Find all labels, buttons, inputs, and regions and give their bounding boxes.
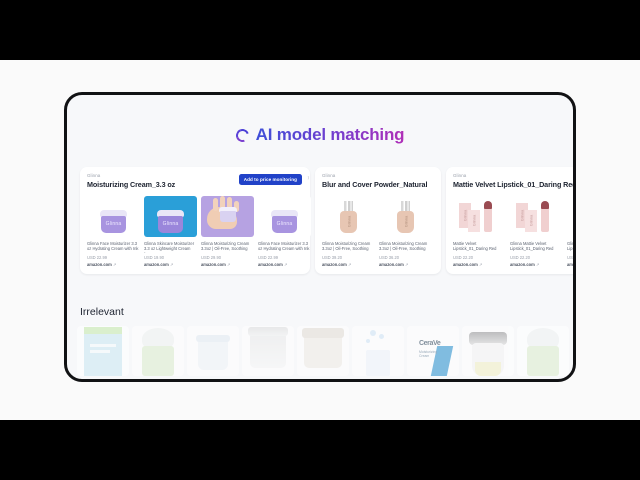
loading-spinner-icon — [234, 126, 251, 143]
product-thumbnail: Glinna Glinna — [510, 196, 563, 237]
page-title: AI model matching — [256, 125, 405, 145]
item-price: USD 22.20 — [567, 255, 576, 260]
irrelevant-section-title: Irrelevant — [80, 306, 124, 318]
product-thumbnail: Glinna — [258, 196, 311, 237]
item-price: USD 22.20 — [510, 255, 563, 260]
cream-jar-icon: Glinna — [271, 210, 298, 233]
product-thumbnail — [201, 196, 254, 237]
item-name: Glinna Mattie Velvet Lipstick_01_Daring … — [510, 241, 563, 253]
item-name: Glinna Moisturizing Cream 3.3oz | Oil-Fr… — [379, 241, 432, 253]
external-link-icon: ↗ — [227, 262, 230, 267]
item-source[interactable]: amazon.com ↗ — [510, 262, 563, 267]
item-meta: Glinna Moisturizing Cream 3.3oz | Oil-Fr… — [322, 241, 375, 268]
item-price: USD 22.99 — [258, 255, 311, 260]
card-overflow-icon[interactable]: ⟩ — [307, 175, 309, 180]
item-meta: Glinna Moisturizing Cream 3.3oz | Oil-Fr… — [201, 241, 254, 268]
product-thumbnail: Glinna — [87, 196, 140, 237]
item-source[interactable]: amazon.com ↗ — [567, 262, 576, 267]
list-item[interactable]: Glinna Glinna Glinna Mattie Velvet Lipst… — [567, 196, 576, 268]
item-source[interactable]: amazon.com ↗ — [201, 262, 254, 267]
matched-cards-strip[interactable]: Glinna Moisturizing Cream_3.3 oz Add to … — [80, 167, 576, 274]
item-meta: Glinna Face Moisturizer 3.3 oz Hydrating… — [87, 241, 140, 268]
item-source[interactable]: amazon.com ↗ — [144, 262, 197, 267]
irrelevant-thumbnail[interactable] — [517, 326, 569, 376]
list-item[interactable]: Glinna Glinna Mattie Velvet Lipstick_01_… — [453, 196, 506, 268]
irrelevant-thumbnail[interactable]: CeraVe Moisturizing Cream — [407, 326, 459, 376]
product-thumbnail: Glinna — [379, 196, 432, 237]
screenshot-stage: AI model matching Glinna Moisturizing Cr… — [0, 0, 640, 480]
lipstick-icon: Glinna Glinna — [515, 200, 559, 234]
item-price: USD 19.90 — [144, 255, 197, 260]
item-meta: Glinna Skincare Moisturizer 3.3 oz Light… — [144, 241, 197, 268]
irrelevant-thumbnail[interactable] — [242, 326, 294, 376]
external-link-icon: ↗ — [170, 262, 173, 267]
irrelevant-thumbnail[interactable] — [297, 326, 349, 376]
lipstick-icon: Glinna Glinna — [458, 200, 502, 234]
item-source[interactable]: amazon.com ↗ — [258, 262, 311, 267]
external-link-icon: ↗ — [113, 262, 116, 267]
external-link-icon: ↗ — [405, 262, 408, 267]
external-link-icon: ↗ — [479, 262, 482, 267]
list-item[interactable]: Glinna Glinna Face Moisturizer 3.3 oz Hy… — [87, 196, 140, 268]
list-item[interactable]: Glinna Glinna Moisturizing Cream 3.3oz |… — [322, 196, 375, 268]
item-source[interactable]: amazon.com ↗ — [322, 262, 375, 267]
item-price: USD 22.99 — [87, 255, 140, 260]
add-to-price-monitoring-button[interactable]: Add to price monitoring — [239, 174, 302, 185]
card-items-row[interactable]: Glinna Glinna Face Moisturizer 3.3 oz Hy… — [87, 196, 303, 268]
card-items-row[interactable]: Glinna Glinna Moisturizing Cream 3.3oz |… — [322, 196, 434, 268]
irrelevant-thumbnail[interactable] — [77, 326, 129, 376]
item-source[interactable]: amazon.com ↗ — [87, 262, 140, 267]
list-item[interactable]: Glinna Moisturizing Cream 3.3oz | Oil-Fr… — [201, 196, 254, 268]
list-item[interactable]: Glinna Glinna Skincare Moisturizer 3.3 o… — [144, 196, 197, 268]
card-brand: Glinna — [322, 173, 434, 178]
list-item[interactable]: Glinna Glinna Face Moisturizer 3.3 oz Hy… — [258, 196, 311, 268]
list-item[interactable]: Glinna Glinna Moisturizing Cream 3.3oz |… — [379, 196, 432, 268]
card-brand: Glinna — [453, 173, 576, 178]
cream-jar-icon: Glinna — [157, 210, 184, 233]
external-link-icon: ↗ — [284, 262, 287, 267]
card-items-row[interactable]: Glinna Glinna Mattie Velvet Lipstick_01_… — [453, 196, 576, 268]
foundation-bottle-icon: Glinna — [340, 201, 357, 233]
product-thumbnail: Glinna Glinna — [567, 196, 576, 237]
product-card[interactable]: Glinna Moisturizing Cream_3.3 oz Add to … — [80, 167, 310, 274]
cream-in-hand-icon — [201, 196, 254, 237]
letterbox-top — [0, 0, 640, 60]
product-card[interactable]: Glinna Blur and Cover Powder_Natural Gli… — [315, 167, 441, 274]
item-meta: Glinna Face Moisturizer 3.3 oz Hydrating… — [258, 241, 311, 268]
page-canvas: AI model matching Glinna Moisturizing Cr… — [0, 60, 640, 420]
cerave-sub-label: Moisturizing Cream — [419, 350, 441, 359]
irrelevant-items-row[interactable]: CeraVe Moisturizing Cream — [77, 326, 576, 376]
product-card[interactable]: Glinna Mattie Velvet Lipstick_01_Daring … — [446, 167, 576, 274]
foundation-bottle-icon: Glinna — [397, 201, 414, 233]
irrelevant-thumbnail[interactable] — [132, 326, 184, 376]
item-price: USD 39.20 — [322, 255, 375, 260]
card-title: Mattie Velvet Lipstick_01_Daring Red — [453, 180, 576, 189]
item-name: Glinna Mattie Velvet Lipstick_0... — [567, 241, 576, 253]
item-meta: Glinna Mattie Velvet Lipstick_0... USD 2… — [567, 241, 576, 268]
item-price: USD 36.20 — [379, 255, 432, 260]
item-meta: Glinna Mattie Velvet Lipstick_01_Daring … — [510, 241, 563, 268]
item-meta: Mattie Velvet Lipstick_01_Daring Red USD… — [453, 241, 506, 268]
product-thumbnail: Glinna — [322, 196, 375, 237]
item-name: Glinna Moisturizing Cream 3.3oz | Oil-Fr… — [322, 241, 375, 253]
irrelevant-thumbnail[interactable] — [462, 326, 514, 376]
cerave-brand-label: CeraVe — [419, 340, 440, 347]
item-name: Glinna Moisturizing Cream 3.3oz | Oil-Fr… — [201, 241, 254, 253]
page-header: AI model matching — [67, 125, 573, 145]
list-item[interactable]: Glinna Glinna Glinna Mattie Velvet Lipst… — [510, 196, 563, 268]
item-name: Glinna Skincare Moisturizer 3.3 oz Light… — [144, 241, 197, 253]
irrelevant-thumbnail[interactable] — [187, 326, 239, 376]
item-name: Glinna Face Moisturizer 3.3 oz Hydrating… — [87, 241, 140, 253]
card-title: Blur and Cover Powder_Natural — [322, 180, 434, 189]
lipstick-icon: Glinna Glinna — [572, 200, 577, 234]
product-thumbnail: Glinna Glinna — [453, 196, 506, 237]
item-price: USD 22.20 — [453, 255, 506, 260]
irrelevant-thumbnail[interactable] — [352, 326, 404, 376]
item-name: Mattie Velvet Lipstick_01_Daring Red — [453, 241, 506, 253]
product-thumbnail: Glinna — [144, 196, 197, 237]
item-source[interactable]: amazon.com ↗ — [379, 262, 432, 267]
item-meta: Glinna Moisturizing Cream 3.3oz | Oil-Fr… — [379, 241, 432, 268]
letterbox-bottom — [0, 420, 640, 480]
cream-jar-icon: Glinna — [100, 210, 127, 233]
external-link-icon: ↗ — [536, 262, 539, 267]
item-price: USD 29.90 — [201, 255, 254, 260]
item-source[interactable]: amazon.com ↗ — [453, 262, 506, 267]
external-link-icon: ↗ — [348, 262, 351, 267]
item-name: Glinna Face Moisturizer 3.3 oz Hydrating… — [258, 241, 311, 253]
device-frame: AI model matching Glinna Moisturizing Cr… — [64, 92, 576, 382]
